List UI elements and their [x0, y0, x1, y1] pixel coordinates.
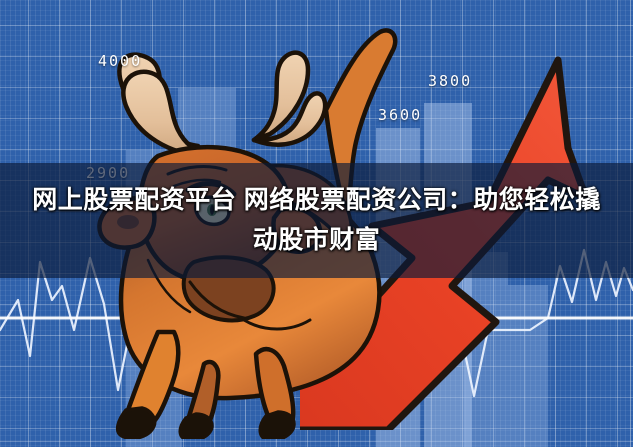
title-overlay-band: [0, 163, 633, 278]
bar-label-3800: 3800: [428, 72, 472, 90]
promo-banner: 4000290036003800 网上股票配资平台 网络股票配资公司：助您轻松撬…: [0, 0, 633, 447]
bar-label-4000: 4000: [98, 52, 142, 70]
bar-label-3600: 3600: [378, 106, 422, 124]
